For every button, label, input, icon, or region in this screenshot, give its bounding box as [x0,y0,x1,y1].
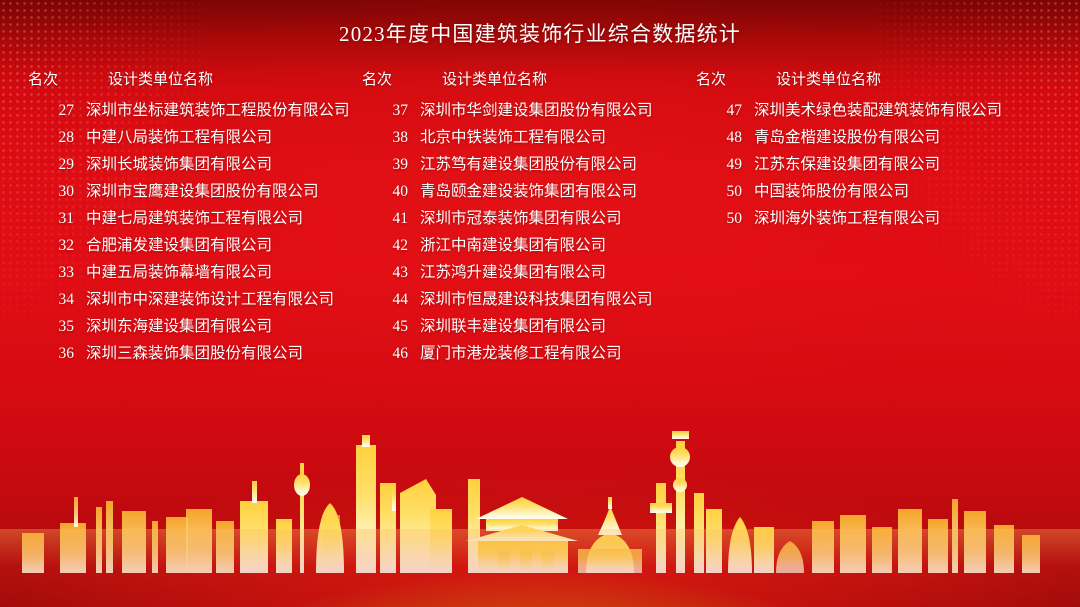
table-row: 50中国装饰股份有限公司 [690,179,1002,206]
name-cell: 中国装饰股份有限公司 [754,179,909,201]
rank-cell: 36 [22,345,86,363]
name-cell: 深圳美术绿色装配建筑装饰有限公司 [754,98,1002,120]
table-row: 33中建五局装饰幕墙有限公司 [22,260,350,287]
table-row: 32合肥浦发建设集团有限公司 [22,233,350,260]
ranking-column-3: 名次 设计类单位名称 47深圳美术绿色装配建筑装饰有限公司 48青岛金楷建设股份… [690,68,1002,233]
rank-cell: 33 [22,264,86,282]
rank-cell: 49 [690,156,754,174]
rank-cell: 50 [690,183,754,201]
table-row: 27深圳市坐标建筑装饰工程股份有限公司 [22,98,350,125]
name-cell: 中建五局装饰幕墙有限公司 [86,260,272,282]
name-cell: 深圳海外装饰工程有限公司 [754,206,940,228]
skyline-silhouette-icon [0,423,1080,573]
table-row: 48青岛金楷建设股份有限公司 [690,125,1002,152]
name-cell: 浙江中南建设集团有限公司 [420,233,606,255]
rank-cell: 47 [690,102,754,120]
table-row: 37深圳市华剑建设集团股份有限公司 [356,98,653,125]
rank-cell: 40 [356,183,420,201]
name-cell: 深圳市恒晟建设科技集团有限公司 [420,287,653,309]
rank-cell: 43 [356,264,420,282]
name-cell: 深圳市中深建装饰设计工程有限公司 [86,287,334,309]
name-cell: 深圳东海建设集团有限公司 [86,314,272,336]
rank-cell: 29 [22,156,86,174]
rank-cell: 27 [22,102,86,120]
name-cell: 青岛金楷建设股份有限公司 [754,125,940,147]
rank-header: 名次 [356,68,414,89]
table-row: 40青岛颐金建设装饰集团有限公司 [356,179,653,206]
table-row: 38北京中铁装饰工程有限公司 [356,125,653,152]
ranking-column-2: 名次 设计类单位名称 37深圳市华剑建设集团股份有限公司 38北京中铁装饰工程有… [356,68,653,368]
name-cell: 江苏东保建设集团有限公司 [754,152,940,174]
slide-canvas: 2023年度中国建筑装饰行业综合数据统计 名次 设计类单位名称 27深圳市坐标建… [0,0,1080,607]
column-header: 名次 设计类单位名称 [690,68,1002,98]
name-header: 设计类单位名称 [414,68,547,89]
name-cell: 江苏鸿升建设集团有限公司 [420,260,606,282]
name-cell: 深圳联丰建设集团有限公司 [420,314,606,336]
table-row: 34深圳市中深建装饰设计工程有限公司 [22,287,350,314]
name-cell: 深圳市坐标建筑装饰工程股份有限公司 [86,98,350,120]
column-header: 名次 设计类单位名称 [356,68,653,98]
rank-cell: 34 [22,291,86,309]
table-row: 39江苏笃有建设集团股份有限公司 [356,152,653,179]
table-row: 30深圳市宝鹰建设集团股份有限公司 [22,179,350,206]
table-row: 50深圳海外装饰工程有限公司 [690,206,1002,233]
rank-header: 名次 [690,68,748,89]
name-cell: 江苏笃有建设集团股份有限公司 [420,152,637,174]
city-skyline-graphic [0,397,1080,607]
name-cell: 中建七局建筑装饰工程有限公司 [86,206,303,228]
table-row: 42浙江中南建设集团有限公司 [356,233,653,260]
table-row: 47深圳美术绿色装配建筑装饰有限公司 [690,98,1002,125]
name-cell: 青岛颐金建设装饰集团有限公司 [420,179,637,201]
table-row: 29深圳长城装饰集团有限公司 [22,152,350,179]
name-header: 设计类单位名称 [748,68,881,89]
rank-cell: 39 [356,156,420,174]
name-cell: 深圳市华剑建设集团股份有限公司 [420,98,653,120]
rank-cell: 46 [356,345,420,363]
rank-cell: 35 [22,318,86,336]
name-cell: 厦门市港龙装修工程有限公司 [420,341,622,363]
rank-cell: 28 [22,129,86,147]
table-row: 49江苏东保建设集团有限公司 [690,152,1002,179]
rank-cell: 31 [22,210,86,228]
column-header: 名次 设计类单位名称 [22,68,350,98]
name-cell: 中建八局装饰工程有限公司 [86,125,272,147]
name-cell: 深圳三森装饰集团股份有限公司 [86,341,303,363]
name-header: 设计类单位名称 [80,68,213,89]
table-row: 28中建八局装饰工程有限公司 [22,125,350,152]
table-row: 44深圳市恒晟建设科技集团有限公司 [356,287,653,314]
table-row: 36深圳三森装饰集团股份有限公司 [22,341,350,368]
name-cell: 深圳市宝鹰建设集团股份有限公司 [86,179,319,201]
page-title: 2023年度中国建筑装饰行业综合数据统计 [0,18,1080,48]
rank-cell: 32 [22,237,86,255]
table-row: 41深圳市冠泰装饰集团有限公司 [356,206,653,233]
rank-cell: 37 [356,102,420,120]
table-row: 43江苏鸿升建设集团有限公司 [356,260,653,287]
rank-cell: 45 [356,318,420,336]
rank-header: 名次 [22,68,80,89]
name-cell: 深圳市冠泰装饰集团有限公司 [420,206,622,228]
ranking-column-1: 名次 设计类单位名称 27深圳市坐标建筑装饰工程股份有限公司 28中建八局装饰工… [22,68,350,368]
table-row: 46厦门市港龙装修工程有限公司 [356,341,653,368]
rank-cell: 50 [690,210,754,228]
rank-cell: 42 [356,237,420,255]
name-cell: 合肥浦发建设集团有限公司 [86,233,272,255]
rank-cell: 38 [356,129,420,147]
name-cell: 深圳长城装饰集团有限公司 [86,152,272,174]
table-row: 31中建七局建筑装饰工程有限公司 [22,206,350,233]
rank-cell: 41 [356,210,420,228]
table-row: 35深圳东海建设集团有限公司 [22,314,350,341]
rank-cell: 48 [690,129,754,147]
name-cell: 北京中铁装饰工程有限公司 [420,125,606,147]
rank-cell: 30 [22,183,86,201]
rank-cell: 44 [356,291,420,309]
table-row: 45深圳联丰建设集团有限公司 [356,314,653,341]
